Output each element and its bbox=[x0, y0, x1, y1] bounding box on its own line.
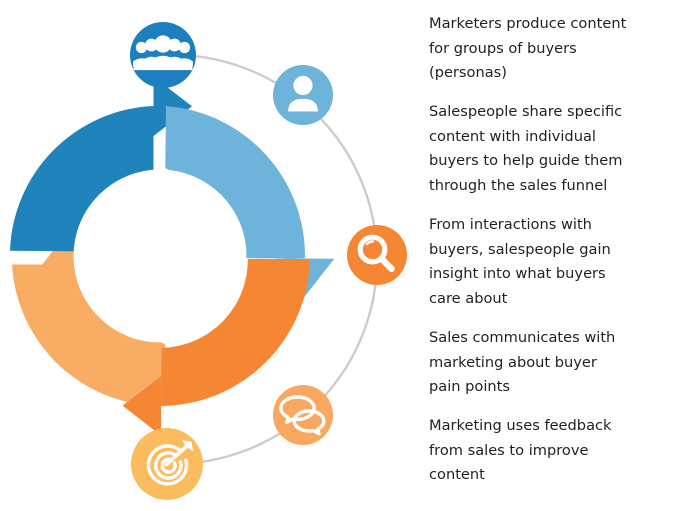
caption-column: Marketers produce content for groups of … bbox=[429, 0, 669, 511]
node-insight[interactable] bbox=[347, 225, 407, 285]
ring-inner-hole bbox=[74, 170, 247, 343]
caption-insight: From interactions with buyers, salespeop… bbox=[429, 213, 629, 311]
node-improve-content[interactable] bbox=[131, 428, 203, 500]
node-individual-buyer[interactable] bbox=[273, 65, 333, 125]
magnifying-glass-icon bbox=[347, 225, 407, 285]
caption-communication: Sales communicates with marketing about … bbox=[429, 326, 629, 400]
group-of-people-icon bbox=[130, 22, 196, 88]
caption-individual-buyer: Salespeople share specific content with … bbox=[429, 100, 629, 198]
node-communication[interactable] bbox=[273, 385, 333, 445]
caption-personas: Marketers produce content for groups of … bbox=[429, 12, 629, 86]
caption-improve-content: Marketing uses feedback from sales to im… bbox=[429, 414, 629, 488]
diagram-canvas: Marketers produce content for groups of … bbox=[0, 0, 675, 511]
node-personas[interactable] bbox=[130, 22, 196, 88]
